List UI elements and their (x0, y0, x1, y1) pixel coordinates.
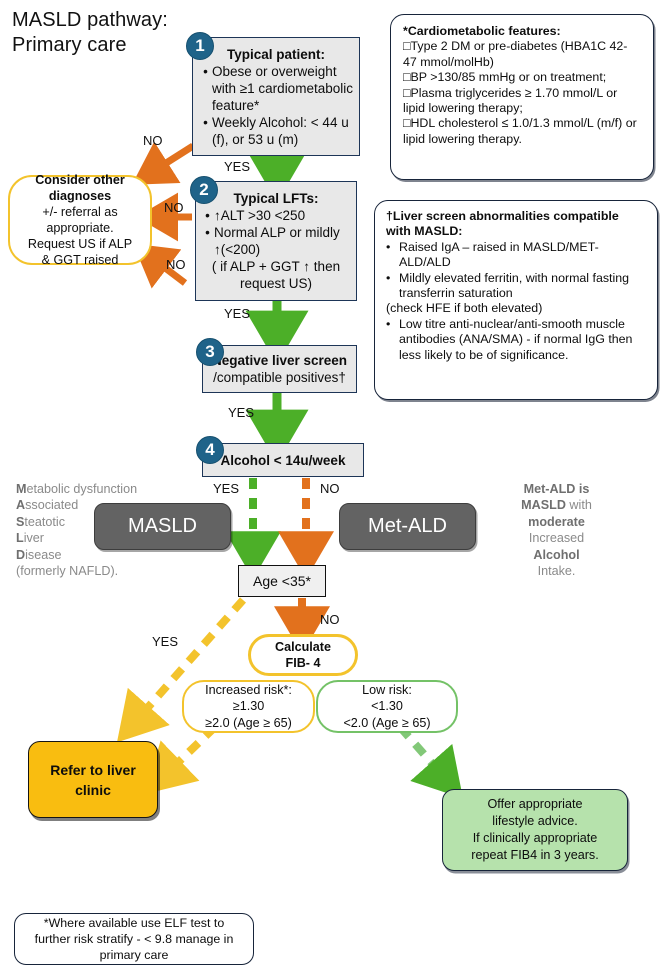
edge-label-yes-age: YES (152, 634, 178, 649)
step-2-number-badge: 2 (190, 176, 218, 204)
step-2-bullet-1-text: ↑ALT >30 <250 (214, 207, 305, 224)
step-2-bullet-1: • ↑ALT >30 <250 (201, 207, 351, 224)
metald-label: Met-ALD (368, 515, 447, 538)
cardiometabolic-item-2: □BP >130/85 mmHg or on treatment; (403, 70, 641, 85)
masld-acronym-line-6: (formerly NAFLD). (16, 563, 166, 579)
arrow-step1-no-to-consider-other (152, 146, 193, 172)
refer-line2: clinic (75, 780, 111, 800)
liver-screen-abnormalities-note[interactable]: †Liver screen abnormalities compatible w… (374, 200, 658, 400)
step-1-typical-patient[interactable]: Typical patient: • Obese or overweight w… (192, 37, 360, 156)
masld-acronym-line-3: Steatotic (16, 514, 166, 530)
metald-desc-line-5: Alcohol (489, 547, 624, 563)
consider-other-line4: appropriate. (46, 220, 113, 236)
masld-acronym-rest-2: ssociated (25, 498, 78, 512)
increased-risk-line3: ≥2.0 (Age ≥ 65) (205, 715, 292, 732)
low-risk-line2: <1.30 (371, 698, 403, 715)
step-1-heading: Typical patient: (199, 46, 353, 63)
bullet-dot-icon: • (386, 317, 399, 363)
arrow-increased-risk-to-refer (165, 727, 215, 775)
increased-risk-line1: Increased risk*: (205, 682, 292, 699)
consider-other-diagnoses-box[interactable]: Consider other diagnoses +/- referral as… (8, 175, 152, 265)
step-1-bullet-1: • Obese or overweight with ≥1 cardiometa… (199, 63, 353, 114)
step-2-bullet-2-text: Normal ALP or mildly ↑(<200) (214, 224, 351, 258)
edge-label-yes-step3: YES (228, 405, 254, 420)
consider-other-line2: diagnoses (49, 188, 111, 204)
page-title: MASLD pathway: Primary care (12, 8, 202, 58)
increased-risk-line2: ≥1.30 (233, 698, 264, 715)
consider-other-line5: Request US if ALP (28, 236, 132, 252)
edge-label-no-step2-mid: NO (164, 200, 184, 215)
bullet-dot-icon: • (201, 224, 214, 258)
masld-acronym-rest-5: isease (25, 548, 61, 562)
liver-screen-interjection: (check HFE if both elevated) (386, 301, 646, 316)
step-4-number-badge: 4 (196, 436, 224, 464)
bullet-dot-icon: • (199, 114, 212, 148)
metald-desc-line-6: Intake. (489, 563, 624, 579)
step-1-bullet-1-text: Obese or overweight with ≥1 cardiometabo… (212, 63, 353, 114)
step-2-bullet-2: • Normal ALP or mildly ↑(<200) (201, 224, 351, 258)
step-4-alcohol-threshold[interactable]: Alcohol < 14u/week (202, 443, 364, 477)
masld-acronym-initial-l: L (16, 531, 24, 545)
cardiometabolic-item-4: □HDL cholesterol ≤ 1.0/1.3 mmol/L (m/f) … (403, 116, 641, 147)
edge-label-no-step4: NO (320, 481, 340, 496)
fib4-line2: FIB- 4 (286, 655, 321, 671)
low-risk-box[interactable]: Low risk: <1.30 <2.0 (Age ≥ 65) (316, 680, 458, 733)
masld-acronym-legend: Metabolic dysfunction Associated Steatot… (16, 481, 166, 579)
bullet-dot-icon: • (386, 271, 399, 302)
edge-label-yes-step1: YES (224, 159, 250, 174)
elf-footnote-box[interactable]: *Where available use ELF test to further… (14, 913, 254, 965)
fib4-line1: Calculate (275, 639, 331, 655)
masld-acronym-rest-1: etabolic dysfunction (27, 482, 138, 496)
edge-label-no-age: NO (320, 612, 340, 627)
advice-line2: lifestyle advice. (492, 813, 577, 830)
masld-pathway-diagram: MASLD pathway: Primary care Typical pati… (0, 0, 661, 972)
metald-desc-bold-1: Met-ALD is (524, 482, 590, 496)
consider-other-line1: Consider other (35, 172, 125, 188)
bullet-dot-icon: • (199, 63, 212, 114)
refer-to-liver-clinic-box[interactable]: Refer to liver clinic (28, 741, 158, 818)
metald-desc-line-1: Met-ALD is (489, 481, 624, 497)
liver-screen-bullet-1-text: Raised IgA – raised in MASLD/MET-ALD/ALD (399, 240, 646, 271)
step-3-subline: /compatible positives† (207, 369, 352, 386)
low-risk-line1: Low risk: (362, 682, 412, 699)
masld-acronym-initial-a: A (16, 498, 25, 512)
metald-desc-rest-2: with (566, 498, 592, 512)
metald-desc-line-2: MASLD with (489, 497, 624, 513)
page-title-line2: Primary care (12, 33, 202, 58)
masld-acronym-line-2: Associated (16, 497, 166, 513)
step-2-heading: Typical LFTs: (201, 190, 351, 207)
step-3-number-badge: 3 (196, 338, 224, 366)
masld-acronym-rest-3: teatotic (24, 515, 65, 529)
masld-acronym-line-1: Metabolic dysfunction (16, 481, 166, 497)
bullet-dot-icon: • (386, 240, 399, 271)
edge-label-yes-step2: YES (224, 306, 250, 321)
masld-acronym-initial-m: M (16, 482, 27, 496)
masld-acronym-line-4: Liver (16, 530, 166, 546)
footnote-line3: primary care (100, 947, 169, 963)
footnote-line1: *Where available use ELF test to (44, 915, 224, 931)
page-title-line1: MASLD pathway: (12, 8, 202, 33)
liver-screen-bullet-3: • Low titre anti-nuclear/anti-smooth mus… (386, 317, 646, 363)
liver-screen-bullet-1: • Raised IgA – raised in MASLD/MET-ALD/A… (386, 240, 646, 271)
liver-screen-bullet-2-text: Mildly elevated ferritin, with normal fa… (399, 271, 646, 302)
step-1-bullet-2-text: Weekly Alcohol: < 44 u (f), or 53 u (m) (212, 114, 353, 148)
cardiometabolic-item-1: □Type 2 DM or pre-diabetes (HBA1C 42-47 … (403, 39, 641, 70)
advice-line1: Offer appropriate (488, 796, 583, 813)
low-risk-line3: <2.0 (Age ≥ 65) (343, 715, 430, 732)
increased-risk-box[interactable]: Increased risk*: ≥1.30 ≥2.0 (Age ≥ 65) (182, 680, 315, 733)
masld-acronym-rest-4: iver (24, 531, 44, 545)
cardiometabolic-item-3: □Plasma triglycerides ≥ 1.70 mmol/L or l… (403, 86, 641, 117)
age-threshold-box[interactable]: Age <35* (238, 565, 326, 597)
consider-other-line3: +/- referral as (42, 204, 117, 220)
cardiometabolic-features-note[interactable]: *Cardiometabolic features: □Type 2 DM or… (390, 14, 654, 180)
arrow-low-risk-to-advice (400, 727, 445, 778)
metald-diagnosis-box[interactable]: Met-ALD (339, 503, 476, 550)
step-4-heading: Alcohol < 14u/week (207, 452, 359, 469)
bullet-dot-icon: • (201, 207, 214, 224)
footnote-line2: further risk stratify - < 9.8 manage in (35, 931, 234, 947)
liver-screen-bullet-2: • Mildly elevated ferritin, with normal … (386, 271, 646, 302)
cardiometabolic-heading: *Cardiometabolic features: (403, 24, 641, 39)
liver-screen-heading: †Liver screen abnormalities compatible w… (386, 209, 646, 240)
masld-acronym-initial-d: D (16, 548, 25, 562)
advice-line4: repeat FIB4 in 3 years. (471, 847, 598, 864)
step-3-heading: Negative liver screen (207, 352, 352, 369)
step-2-note: ( if ALP + GGT ↑ then request US) (201, 258, 351, 292)
step-3-negative-liver-screen[interactable]: Negative liver screen /compatible positi… (202, 345, 357, 393)
calculate-fib4-box[interactable]: Calculate FIB- 4 (248, 634, 358, 676)
metald-desc-line-3: moderate (489, 514, 624, 530)
metald-desc-bold-5: Alcohol (533, 548, 579, 562)
liver-screen-bullet-3-text: Low titre anti-nuclear/anti-smooth muscl… (399, 317, 646, 363)
age-threshold-label: Age <35* (253, 573, 311, 589)
masld-acronym-line-5: Disease (16, 547, 166, 563)
lifestyle-advice-box[interactable]: Offer appropriate lifestyle advice. If c… (442, 789, 628, 871)
step-1-bullet-2: • Weekly Alcohol: < 44 u (f), or 53 u (m… (199, 114, 353, 148)
refer-line1: Refer to liver (50, 760, 136, 780)
advice-line3: If clinically appropriate (473, 830, 598, 847)
step-1-number-badge: 1 (186, 32, 214, 60)
edge-label-yes-step4: YES (213, 481, 239, 496)
step-2-typical-lfts[interactable]: Typical LFTs: • ↑ALT >30 <250 • Normal A… (195, 181, 357, 301)
metald-desc-bold-3: moderate (528, 515, 585, 529)
consider-other-line6: & GGT raised (42, 252, 119, 268)
edge-label-no-step2-low: NO (166, 257, 186, 272)
metald-desc-line-4: Increased (489, 530, 624, 546)
metald-description-legend: Met-ALD is MASLD with moderate Increased… (489, 481, 624, 579)
metald-desc-bold-2: MASLD (521, 498, 566, 512)
edge-label-no-step1: NO (143, 133, 163, 148)
